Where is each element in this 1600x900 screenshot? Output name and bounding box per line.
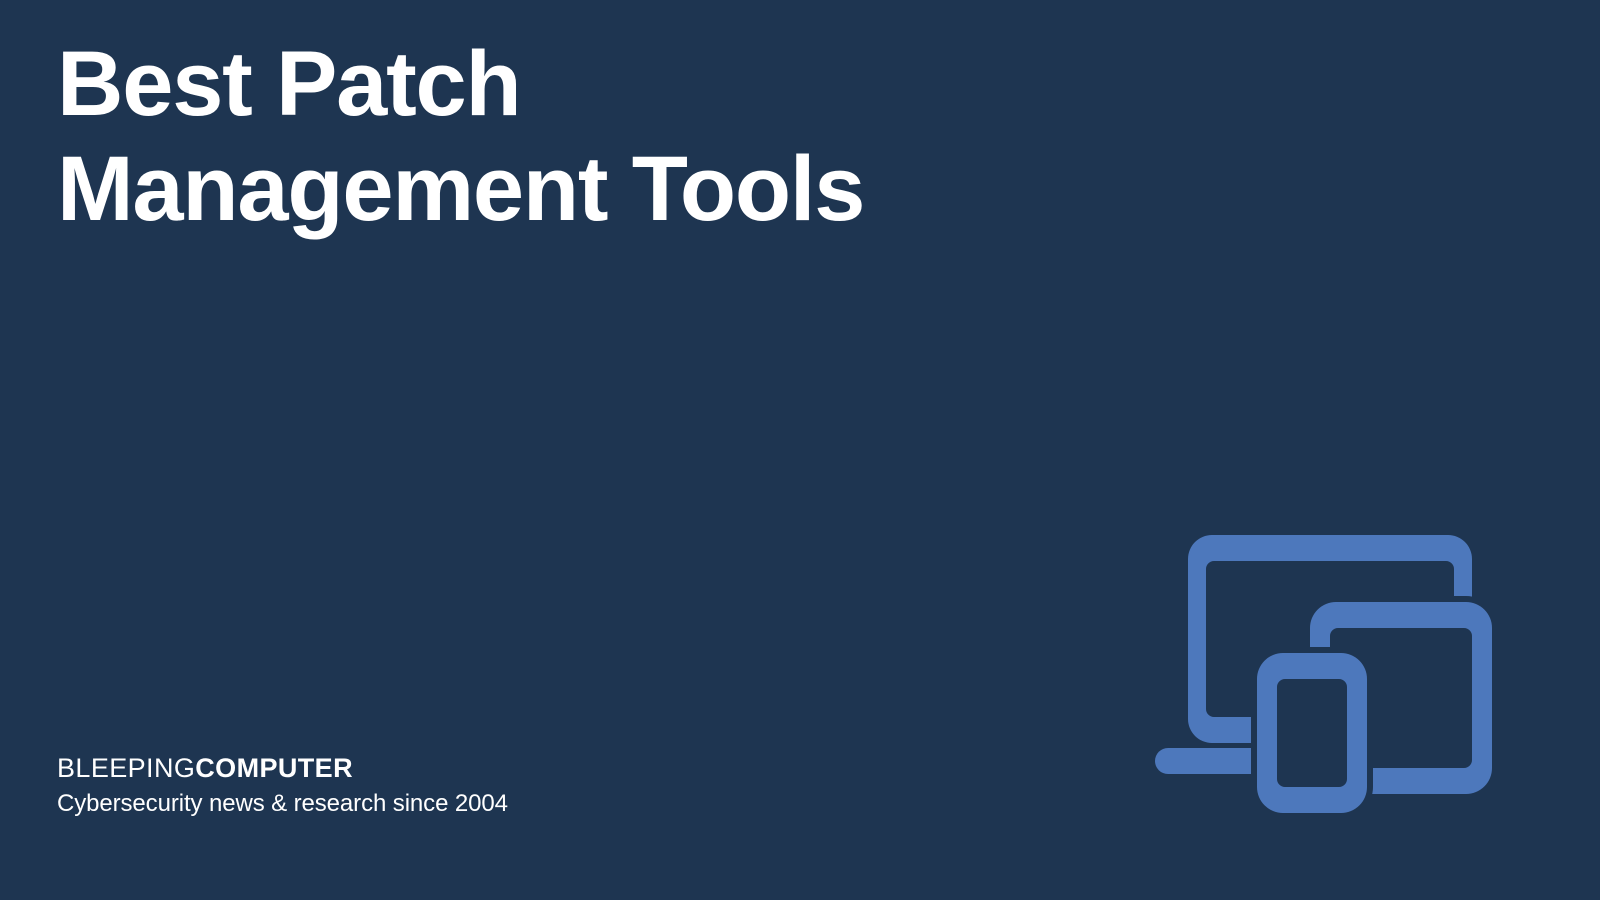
brand-footer: BLEEPINGCOMPUTER Cybersecurity news & re… [57, 753, 508, 818]
page-title: Best Patch Management Tools [57, 32, 1057, 242]
brand-tagline: Cybersecurity news & research since 2004 [57, 790, 508, 818]
title-line-1: Best Patch [57, 32, 1057, 137]
title-line-2: Management Tools [57, 137, 1057, 242]
slide-canvas: Best Patch Management Tools BLEEPINGCOMP… [0, 0, 1600, 900]
bleepingcomputer-logo: BLEEPINGCOMPUTER [57, 753, 508, 784]
logo-text-computer: COMPUTER [195, 753, 353, 783]
multi-device-icon-svg [1150, 520, 1510, 825]
logo-text-bleeping: BLEEPING [57, 753, 195, 783]
multi-device-icon [1150, 520, 1510, 825]
